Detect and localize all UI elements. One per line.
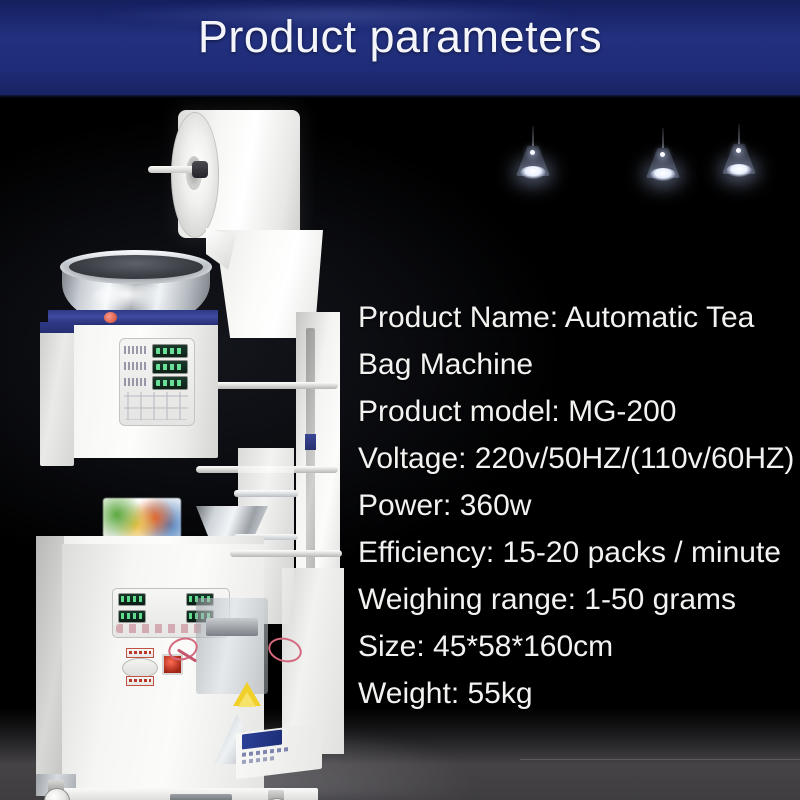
page-title: Product parameters (0, 13, 800, 62)
display-label-3 (124, 378, 148, 386)
upper-left-side-panel (40, 326, 74, 466)
spec-line-size: Size: 45*58*160cm (358, 623, 800, 670)
lower-cross-bar (230, 550, 342, 557)
blue-accent-band-left (40, 322, 74, 333)
vibratory-bowl-interior (69, 255, 203, 279)
sealing-assembly (196, 598, 268, 694)
display-label-1 (124, 346, 148, 354)
spec-line-product-name: Product Name: Automatic Tea (358, 294, 800, 341)
control-keypad[interactable] (124, 392, 188, 420)
hazard-warning-inner (238, 692, 256, 707)
spec-line-weight: Weight: 55kg (358, 670, 800, 717)
product-sticker (103, 498, 181, 538)
weight-display-2 (152, 360, 188, 374)
lower-left-side-panel (36, 536, 64, 784)
weight-display-1 (152, 344, 188, 358)
warning-label-upper (126, 648, 154, 658)
band-indicator-light (104, 312, 117, 323)
header-banner: Product parameters (0, 0, 800, 98)
film-spindle-knob (192, 161, 208, 178)
spec-line-power: Power: 360w (358, 482, 800, 529)
spec-line-product-name-cont: Bag Machine (358, 341, 800, 388)
oval-info-sticker (122, 658, 158, 678)
temperature-display-2 (118, 610, 146, 623)
spec-line-efficiency: Efficiency: 15-20 packs / minute (358, 529, 800, 576)
spec-line-weighing-range: Weighing range: 1-50 grams (358, 576, 800, 623)
warning-label-lower (126, 676, 154, 686)
bowl-highlight (92, 284, 168, 310)
product-photo: Product Name: Automatic Tea Bag Machine … (0, 98, 800, 800)
product-parameters-page: Product parameters (0, 0, 800, 800)
specification-list: Product Name: Automatic Tea Bag Machine … (358, 294, 800, 717)
frame-blue-marker (305, 434, 316, 450)
base-slot (170, 794, 232, 800)
spec-line-product-model: Product model: MG-200 (358, 388, 800, 435)
weight-display-3 (152, 376, 188, 390)
display-label-2 (124, 362, 148, 370)
sealing-jaw (206, 618, 258, 636)
temperature-display-1 (118, 593, 146, 606)
chute-clamp-upper (234, 490, 298, 497)
spec-line-voltage: Voltage: 220v/50HZ/(110v/60HZ) (358, 435, 800, 482)
